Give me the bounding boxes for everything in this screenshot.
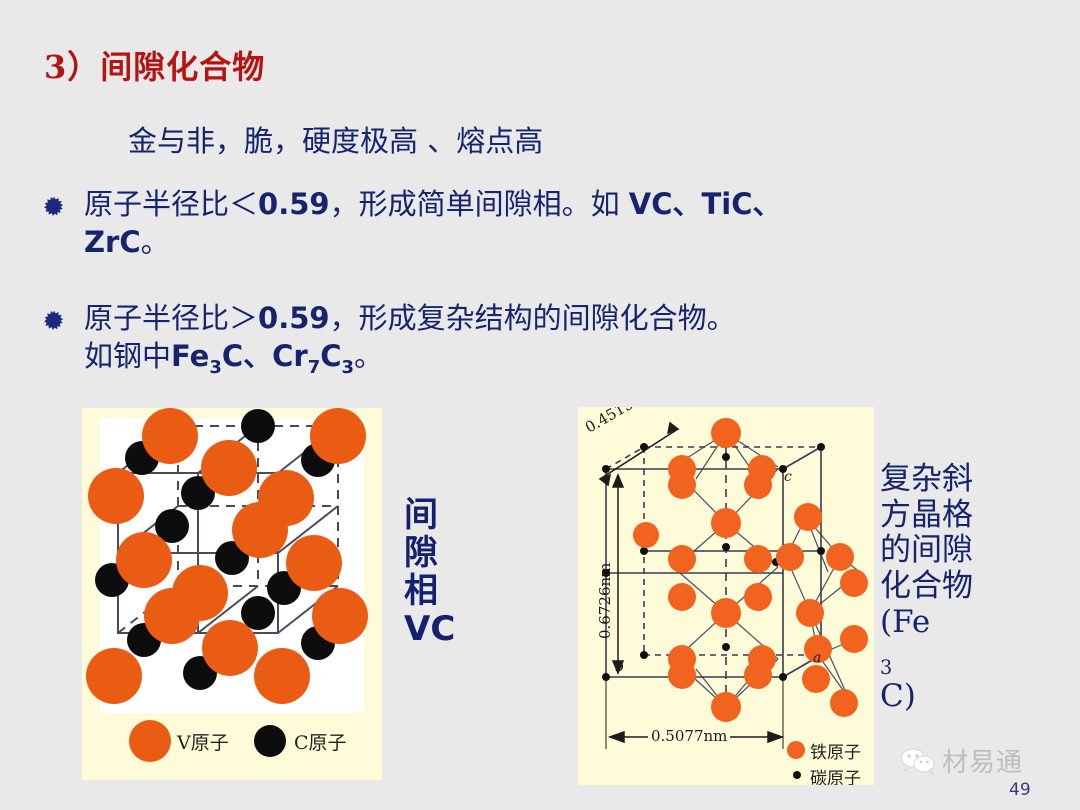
star-bullet-icon [44, 196, 64, 216]
vc-lattice-drawing [82, 408, 382, 780]
subtitle-line: 金与非，脆，硬度极高 、熔点高 [128, 118, 543, 160]
bullet-1-line-2: ZrC。 [84, 225, 170, 259]
bullet-2-line-1: 原子半径比＞0.59，形成复杂结构的间隙化合物。 [84, 301, 736, 335]
vc-crystal-figure: V原子 C原子 [82, 408, 382, 780]
page-number: 49 [1009, 780, 1031, 800]
bullet-1-line-1: 原子半径比＜0.59，形成简单间隙相。如 VC、TiC、 [84, 187, 782, 221]
wechat-icon [900, 747, 936, 775]
fe3c-caption-line-2: 方晶格 [880, 498, 973, 534]
fe3c-axis-b: b [615, 659, 624, 675]
bullet-2-text: 原子半径比＞0.59，形成复杂结构的间隙化合物。 如钢中Fe3C、Cr7C3。 [84, 300, 1064, 379]
vc-legend-v-swatch [129, 720, 171, 762]
vc-caption: 间 隙 相 VC [404, 496, 455, 648]
fe3c-axis-c: c [784, 469, 792, 485]
fe3c-legend-label-c: 碳原子 [810, 764, 861, 785]
bullet-item-1: 原子半径比＜0.59，形成简单间隙相。如 VC、TiC、 ZrC。 [44, 186, 1064, 261]
fe3c-crystal-figure: 0.4515nm 0.6726nm 0.5077nm c b a 铁原子 碳原子 [578, 407, 874, 785]
fe3c-caption-formula: (Fe3C) [880, 605, 973, 716]
slide-root: 3）间隙化合物 金与非，脆，硬度极高 、熔点高 原子半径比＜0.59，形成简单间… [0, 0, 1080, 810]
fe3c-legend-label-fe: 铁原子 [810, 738, 861, 763]
vc-legend-c-swatch [254, 725, 286, 757]
bullet-item-2: 原子半径比＞0.59，形成复杂结构的间隙化合物。 如钢中Fe3C、Cr7C3。 [44, 300, 1064, 379]
vc-caption-line-1: 间 [404, 496, 455, 534]
fe3c-caption: 复杂斜 方晶格 的间隙 化合物 (Fe3C) [880, 462, 973, 715]
fe3c-legend-c-swatch [793, 771, 801, 779]
bullet-1-text: 原子半径比＜0.59，形成简单间隙相。如 VC、TiC、 ZrC。 [84, 186, 1064, 261]
vc-legend-label-c: C原子 [294, 728, 347, 755]
fe3c-dim-vertical: 0.6726nm [596, 563, 614, 639]
page-title: 3）间隙化合物 [44, 42, 265, 88]
fe3c-caption-line-1: 复杂斜 [880, 462, 973, 498]
bullet-2-line-2: 如钢中Fe3C、Cr7C3。 [84, 339, 383, 373]
star-bullet-icon [44, 310, 64, 330]
watermark-text: 材易通 [942, 742, 1023, 779]
vc-legend-label-v: V原子 [177, 728, 229, 755]
fe3c-caption-line-3: 的间隙 [880, 533, 973, 569]
fe3c-axis-a: a [813, 650, 821, 666]
fe3c-legend-fe-swatch [787, 741, 805, 759]
fe3c-dim-horizontal: 0.5077nm [648, 727, 730, 745]
watermark: 材易通 [900, 742, 1023, 779]
vc-caption-line-3: 相 [404, 572, 455, 610]
vc-caption-line-4: VC [404, 610, 455, 648]
fe3c-caption-line-4: 化合物 [880, 569, 973, 605]
vc-caption-line-2: 隙 [404, 534, 455, 572]
